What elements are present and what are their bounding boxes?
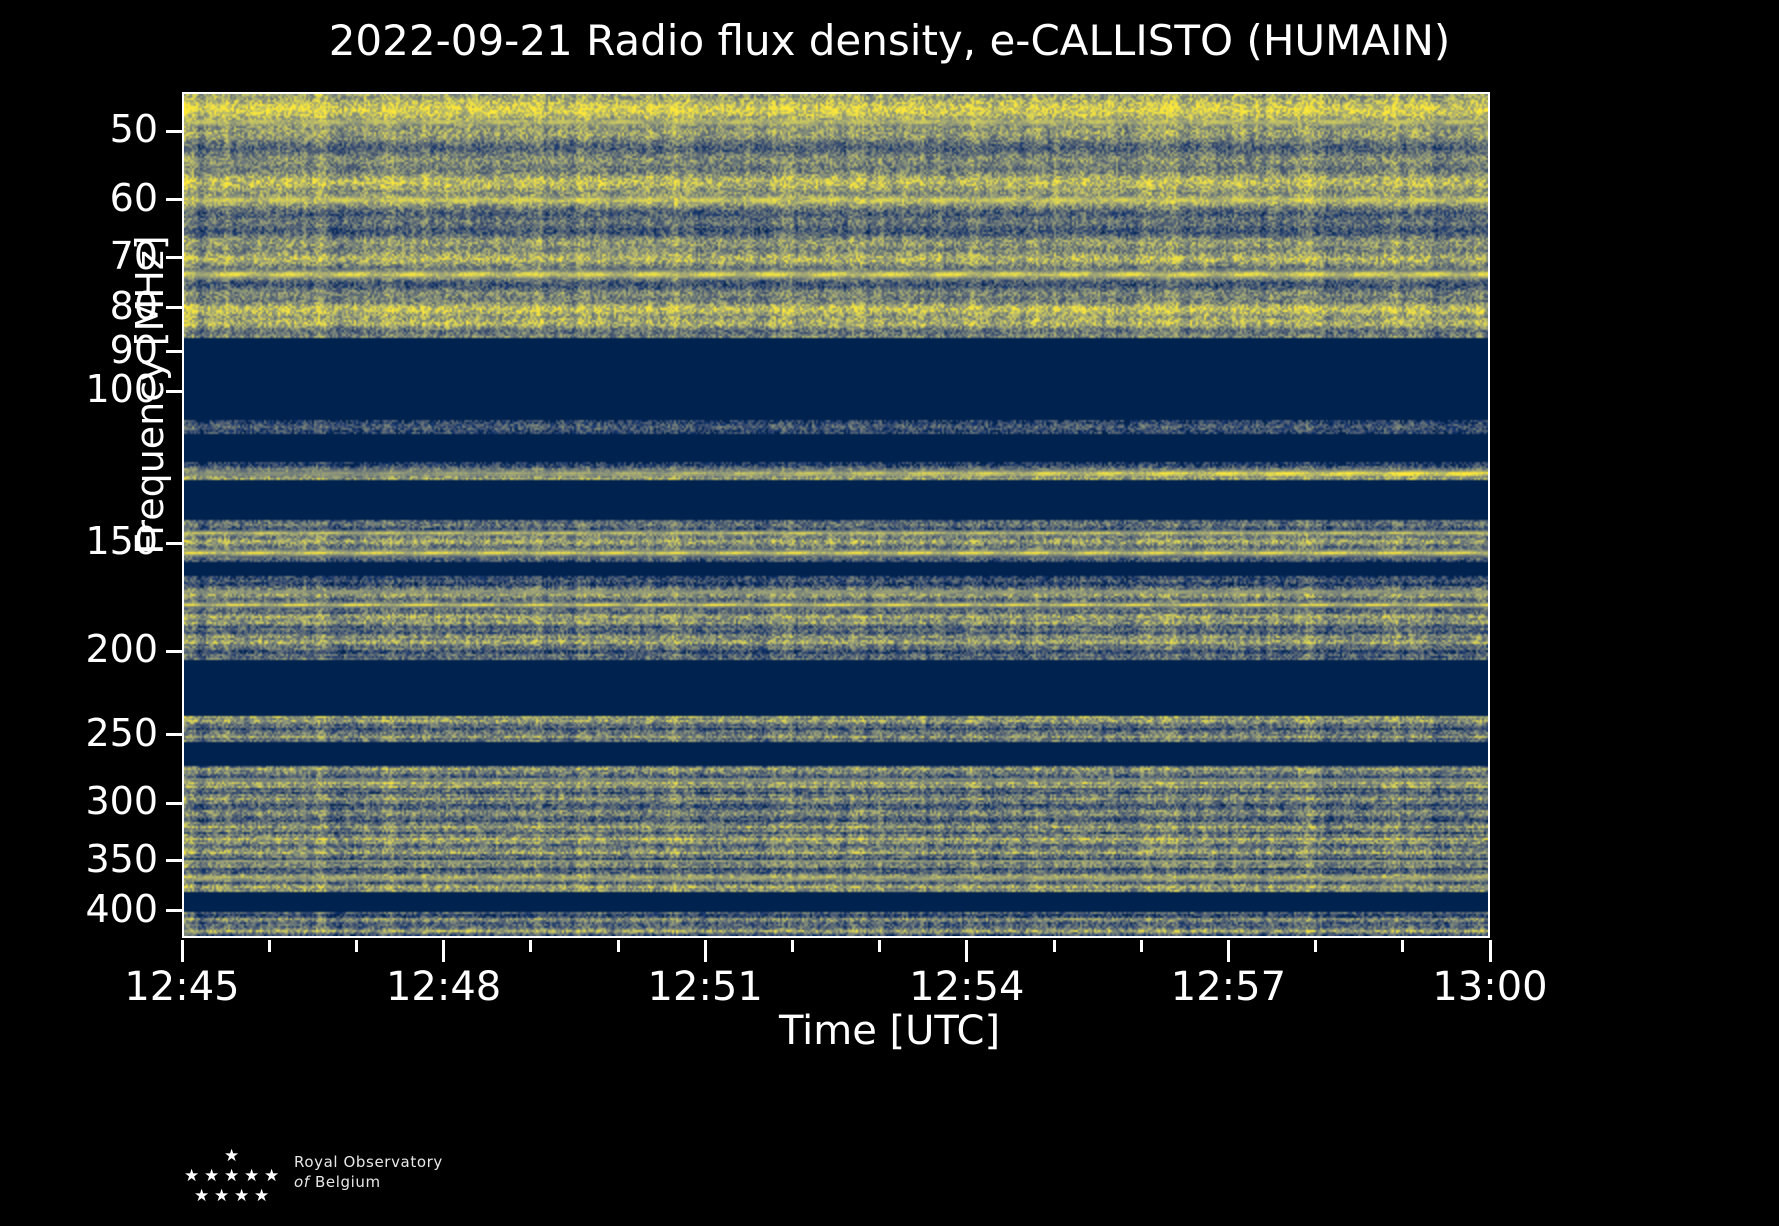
- x-tick-major: [442, 940, 445, 962]
- x-tick-major: [965, 940, 968, 962]
- y-tick-label: 60: [110, 179, 158, 217]
- x-tick-label: 12:57: [1171, 964, 1286, 1010]
- x-tick-major: [181, 940, 184, 962]
- chart-title: 2022-09-21 Radio flux density, e-CALLIST…: [0, 16, 1779, 66]
- y-tick-label: 250: [85, 714, 158, 752]
- spectrogram-plot[interactable]: [182, 92, 1490, 938]
- star-icon: ★: [214, 1188, 229, 1205]
- x-tick-major: [704, 940, 707, 962]
- star-icon: ★: [224, 1168, 239, 1185]
- logo-text: Royal Observatory of Belgium: [294, 1152, 474, 1192]
- x-axis-label: Time [UTC]: [0, 1008, 1779, 1054]
- x-tick-label: 12:48: [386, 964, 501, 1010]
- y-tick-label: 350: [85, 840, 158, 878]
- logo-country: Belgium: [315, 1173, 381, 1191]
- y-tick-label: 300: [85, 782, 158, 820]
- x-tick-minor: [791, 940, 794, 952]
- y-tick-label: 50: [110, 110, 158, 148]
- x-tick-minor: [878, 940, 881, 952]
- y-tick-label: 100: [85, 370, 158, 408]
- star-icon: ★: [184, 1168, 199, 1185]
- star-icon: ★: [224, 1148, 239, 1165]
- star-icon: ★: [254, 1188, 269, 1205]
- logo-line-2: of Belgium: [294, 1172, 474, 1192]
- y-tick-label: 70: [110, 237, 158, 275]
- star-icon: ★: [194, 1188, 209, 1205]
- x-tick-minor: [617, 940, 620, 952]
- x-tick-major: [1489, 940, 1492, 962]
- x-tick-minor: [268, 940, 271, 952]
- logo-stars-icon: ★★★★★★★★★★: [176, 1148, 288, 1210]
- spectrogram-image: [184, 94, 1488, 936]
- x-tick-minor: [1401, 940, 1404, 952]
- x-tick-minor: [355, 940, 358, 952]
- star-icon: ★: [264, 1168, 279, 1185]
- x-tick-label: 13:00: [1432, 964, 1547, 1010]
- y-tick-label: 80: [110, 287, 158, 325]
- figure-canvas: 2022-09-21 Radio flux density, e-CALLIST…: [0, 0, 1779, 1226]
- logo-line-1: Royal Observatory: [294, 1152, 474, 1172]
- star-icon: ★: [244, 1168, 259, 1185]
- x-tick-major: [1227, 940, 1230, 962]
- x-tick-minor: [1053, 940, 1056, 952]
- y-tick-label: 150: [85, 522, 158, 560]
- y-tick-label: 200: [85, 630, 158, 668]
- x-tick-minor: [529, 940, 532, 952]
- y-tick-label: 400: [85, 890, 158, 928]
- x-tick-label: 12:51: [648, 964, 763, 1010]
- x-tick-minor: [1140, 940, 1143, 952]
- star-icon: ★: [234, 1188, 249, 1205]
- star-icon: ★: [204, 1168, 219, 1185]
- x-tick-label: 12:54: [909, 964, 1024, 1010]
- royal-observatory-logo: ★★★★★★★★★★ Royal Observatory of Belgium: [176, 1148, 476, 1210]
- logo-of-word: of: [294, 1173, 310, 1191]
- x-tick-label: 12:45: [124, 964, 239, 1010]
- y-tick-label: 90: [110, 331, 158, 369]
- x-tick-minor: [1314, 940, 1317, 952]
